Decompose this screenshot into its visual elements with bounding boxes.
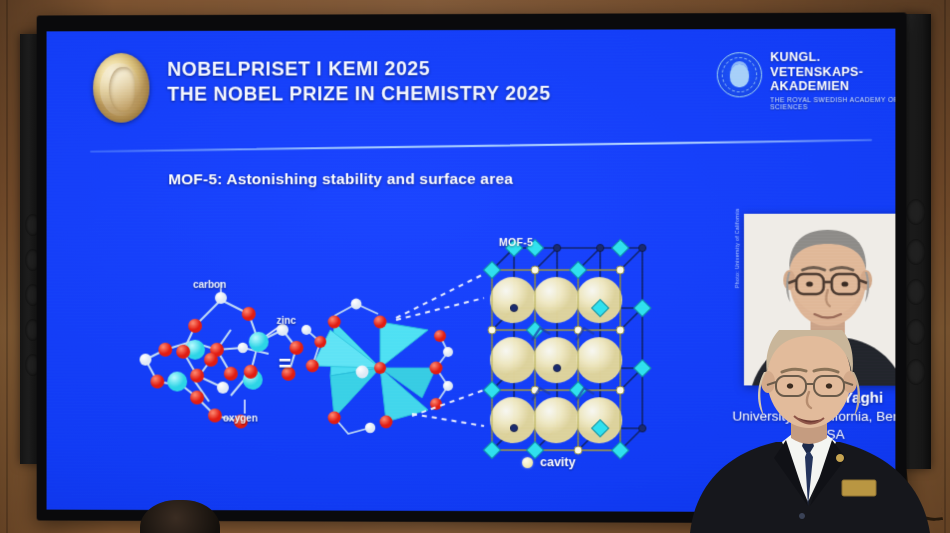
label-zinc: zinc xyxy=(277,316,296,327)
equals-sign: = xyxy=(279,351,292,377)
presenter-figure xyxy=(690,330,950,533)
cavity-legend: cavity xyxy=(522,455,576,469)
mof5-label: MOF-5 xyxy=(499,237,533,249)
speaker-grille xyxy=(906,199,925,225)
label-carbon: carbon xyxy=(193,280,226,291)
wall-seam xyxy=(6,0,8,533)
label-oxygen: oxygen xyxy=(223,414,258,425)
cavity-legend-label: cavity xyxy=(540,455,576,469)
speaker-grille xyxy=(906,279,925,305)
press-conference-scene: NOBELPRISET I KEMI 2025 THE NOBEL PRIZE … xyxy=(0,0,950,533)
presenter-at-podium xyxy=(690,330,950,533)
cavity-dot-icon xyxy=(522,457,533,468)
speaker-grille xyxy=(906,239,925,265)
photo-credit: Photo: University of California xyxy=(735,209,741,288)
